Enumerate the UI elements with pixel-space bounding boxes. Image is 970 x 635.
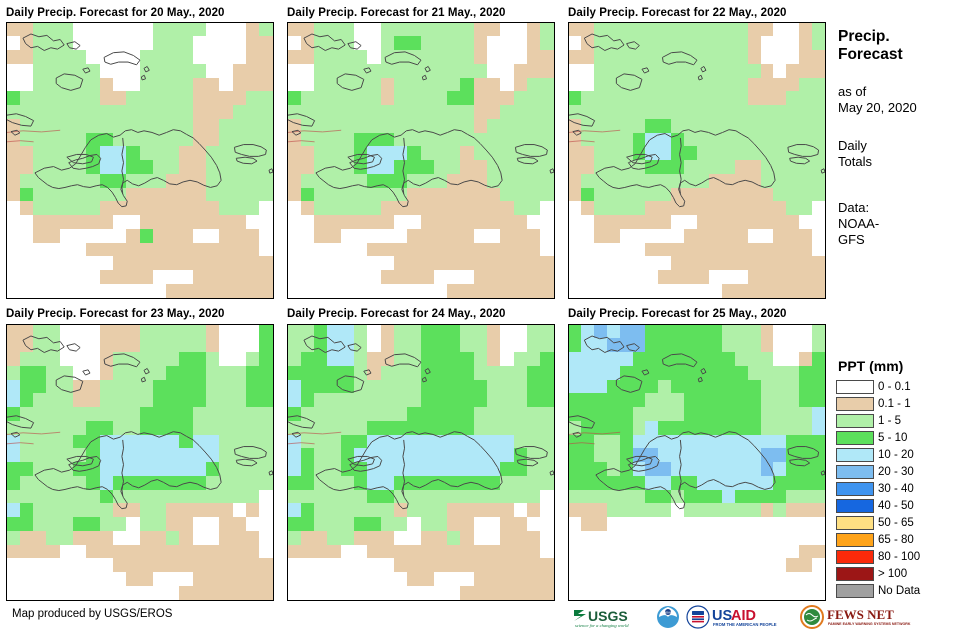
forecast-panel-6: Daily Precip. Forecast for 25 May., 2020 <box>568 307 787 321</box>
legend-swatch <box>836 550 874 564</box>
legend-entry: 1 - 5 <box>836 412 970 429</box>
usgs-logo[interactable]: USGS science for a changing world <box>572 605 650 629</box>
legend-entry: 30 - 40 <box>836 480 970 497</box>
info-column: Precip. Forecast as of May 20, 2020 Dail… <box>838 28 970 248</box>
panel-title: Daily Precip. Forecast for 20 May., 2020 <box>6 6 225 20</box>
precip-raster-canvas <box>288 325 554 600</box>
legend-swatch <box>836 380 874 394</box>
legend-swatch <box>836 533 874 547</box>
precip-raster-canvas <box>569 325 825 600</box>
legend-label: 1 - 5 <box>878 414 901 428</box>
legend-label: 10 - 20 <box>878 448 914 462</box>
info-asof-line2: May 20, 2020 <box>838 100 970 116</box>
precip-raster-canvas <box>569 23 825 298</box>
legend-label: 50 - 65 <box>878 516 914 530</box>
map-credit: Map produced by USGS/EROS <box>12 608 172 620</box>
info-data-line2: NOAA- <box>838 216 970 232</box>
map-frame-4[interactable] <box>6 324 274 601</box>
map-frame-5[interactable] <box>287 324 555 601</box>
info-period-line2: Totals <box>838 154 970 170</box>
forecast-panel-1: Daily Precip. Forecast for 20 May., 2020 <box>6 6 225 20</box>
panel-title: Daily Precip. Forecast for 25 May., 2020 <box>568 307 787 321</box>
legend-label: 80 - 100 <box>878 550 920 564</box>
legend-swatch <box>836 414 874 428</box>
svg-text:science for a changing world: science for a changing world <box>575 623 629 628</box>
precip-raster-4 <box>7 325 273 600</box>
legend-swatch <box>836 397 874 411</box>
forecast-panel-2: Daily Precip. Forecast for 21 May., 2020 <box>287 6 506 20</box>
legend-swatch <box>836 448 874 462</box>
legend-entry: 10 - 20 <box>836 446 970 463</box>
legend-swatch <box>836 516 874 530</box>
legend-entry: 0 - 0.1 <box>836 378 970 395</box>
map-frame-3[interactable] <box>568 22 826 299</box>
svg-text:FROM THE AMERICAN PEOPLE: FROM THE AMERICAN PEOPLE <box>713 622 777 627</box>
legend-entry: No Data <box>836 582 970 599</box>
info-heading-line2: Forecast <box>838 46 970 64</box>
svg-text:USGS: USGS <box>588 608 628 624</box>
legend-label: 0 - 0.1 <box>878 380 911 394</box>
legend-entry: 80 - 100 <box>836 548 970 565</box>
precip-legend: PPT (mm) 0 - 0.10.1 - 11 - 55 - 1010 - 2… <box>836 358 970 599</box>
info-data-line3: GFS <box>838 232 970 248</box>
forecast-panel-5: Daily Precip. Forecast for 24 May., 2020 <box>287 307 506 321</box>
precip-raster-canvas <box>288 23 554 298</box>
legend-swatch <box>836 482 874 496</box>
panel-title: Daily Precip. Forecast for 24 May., 2020 <box>287 307 506 321</box>
svg-text:FEWS NET: FEWS NET <box>827 607 894 622</box>
legend-label: 5 - 10 <box>878 431 907 445</box>
legend-rows: 0 - 0.10.1 - 11 - 55 - 1010 - 2020 - 303… <box>836 378 970 599</box>
legend-label: 40 - 50 <box>878 499 914 513</box>
map-frame-1[interactable] <box>6 22 274 299</box>
legend-swatch <box>836 584 874 598</box>
forecast-panel-3: Daily Precip. Forecast for 22 May., 2020 <box>568 6 787 20</box>
legend-swatch <box>836 499 874 513</box>
legend-label: 20 - 30 <box>878 465 914 479</box>
svg-text:NOAA: NOAA <box>664 611 672 615</box>
legend-swatch <box>836 567 874 581</box>
legend-entry: 65 - 80 <box>836 531 970 548</box>
precip-raster-2 <box>288 23 554 298</box>
panel-title: Daily Precip. Forecast for 23 May., 2020 <box>6 307 225 321</box>
legend-entry: 20 - 30 <box>836 463 970 480</box>
legend-label: 65 - 80 <box>878 533 914 547</box>
legend-swatch <box>836 465 874 479</box>
info-asof-line1: as of <box>838 84 970 100</box>
legend-title: PPT (mm) <box>838 358 970 374</box>
legend-label: > 100 <box>878 567 907 581</box>
fewsnet-logo[interactable]: FEWS NET FAMINE EARLY WARNING SYSTEMS NE… <box>800 605 912 629</box>
legend-swatch <box>836 431 874 445</box>
map-frame-6[interactable] <box>568 324 826 601</box>
legend-label: 0.1 - 1 <box>878 397 911 411</box>
legend-label: No Data <box>878 584 920 598</box>
precip-raster-1 <box>7 23 273 298</box>
legend-entry: 5 - 10 <box>836 429 970 446</box>
map-frame-2[interactable] <box>287 22 555 299</box>
legend-entry: 40 - 50 <box>836 497 970 514</box>
precip-raster-6 <box>569 325 825 600</box>
legend-entry: 0.1 - 1 <box>836 395 970 412</box>
forecast-panel-4: Daily Precip. Forecast for 23 May., 2020 <box>6 307 225 321</box>
usaid-logo[interactable]: US AID FROM THE AMERICAN PEOPLE <box>686 605 794 629</box>
info-period-line1: Daily <box>838 138 970 154</box>
info-data-line1: Data: <box>838 200 970 216</box>
noaa-logo[interactable]: NOAA <box>656 605 680 629</box>
svg-text:FAMINE EARLY WARNING SYSTEMS N: FAMINE EARLY WARNING SYSTEMS NETWORK <box>828 622 911 626</box>
panel-title: Daily Precip. Forecast for 21 May., 2020 <box>287 6 506 20</box>
info-heading-line1: Precip. <box>838 28 970 46</box>
precip-raster-3 <box>569 23 825 298</box>
legend-entry: 50 - 65 <box>836 514 970 531</box>
legend-label: 30 - 40 <box>878 482 914 496</box>
precip-raster-canvas <box>7 23 273 298</box>
precip-raster-5 <box>288 325 554 600</box>
panel-title: Daily Precip. Forecast for 22 May., 2020 <box>568 6 787 20</box>
legend-entry: > 100 <box>836 565 970 582</box>
agency-logos: USGS science for a changing world NOAA U… <box>572 604 912 630</box>
precip-raster-canvas <box>7 325 273 600</box>
